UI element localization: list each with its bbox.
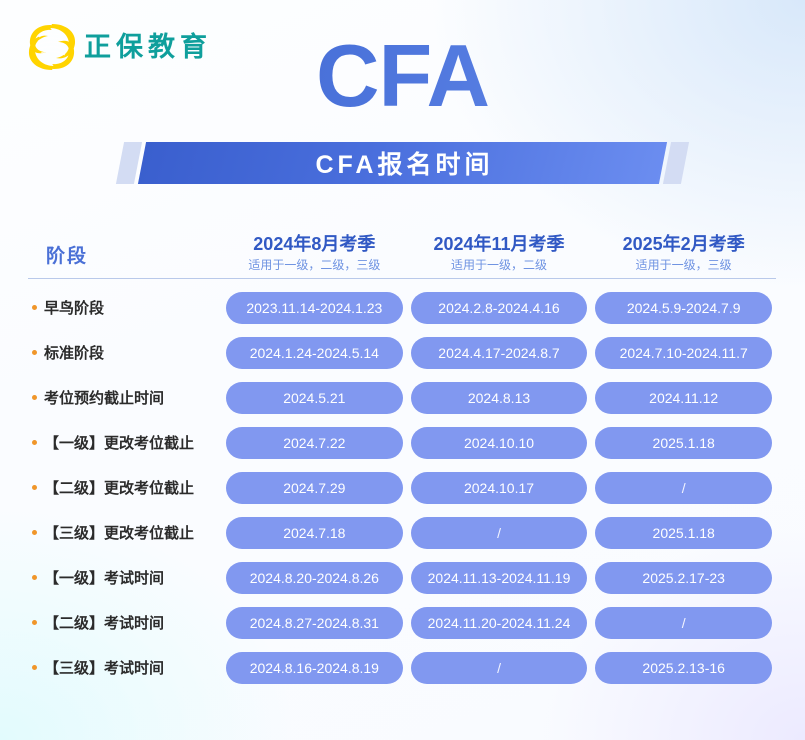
date-pill: 2024.8.27-2024.8.31 bbox=[226, 607, 403, 639]
row-label-text: 【三级】考试时间 bbox=[44, 657, 164, 678]
table-cell: 2024.7.29 bbox=[222, 472, 407, 504]
table-cell: 2024.1.24-2024.5.14 bbox=[222, 337, 407, 369]
bullet-icon bbox=[32, 575, 37, 580]
row-label-text: 【一级】考试时间 bbox=[44, 567, 164, 588]
banner-title: CFA报名时间 bbox=[120, 142, 685, 184]
date-pill: 2024.10.10 bbox=[411, 427, 588, 459]
date-pill: 2024.8.20-2024.8.26 bbox=[226, 562, 403, 594]
table-cell: 2024.8.27-2024.8.31 bbox=[222, 607, 407, 639]
row-label: 【二级】考试时间 bbox=[28, 612, 222, 633]
date-pill: / bbox=[411, 517, 588, 549]
table-cell: / bbox=[407, 652, 592, 684]
table-cell: 2025.2.13-16 bbox=[591, 652, 776, 684]
table-row: 考位预约截止时间 2024.5.21 2024.8.13 2024.11.12 bbox=[28, 375, 776, 420]
table-cell: / bbox=[591, 607, 776, 639]
table-cell: 2024.4.17-2024.8.7 bbox=[407, 337, 592, 369]
table-cell: 2025.1.18 bbox=[591, 517, 776, 549]
table-cell: 2024.7.10-2024.11.7 bbox=[591, 337, 776, 369]
bullet-icon bbox=[32, 665, 37, 670]
table-row: 标准阶段 2024.1.24-2024.5.14 2024.4.17-2024.… bbox=[28, 330, 776, 375]
row-label: 早鸟阶段 bbox=[28, 297, 222, 318]
table-header-row: 阶段 2024年8月考季 适用于一级，二级，三级 2024年11月考季 适用于一… bbox=[28, 228, 776, 278]
table-cell: / bbox=[591, 472, 776, 504]
column-header-season-2: 2024年11月考季 适用于一级，二级 bbox=[407, 233, 592, 275]
table-cell: 2024.2.8-2024.4.16 bbox=[407, 292, 592, 324]
table-cell: / bbox=[407, 517, 592, 549]
bullet-icon bbox=[32, 395, 37, 400]
bullet-icon bbox=[32, 305, 37, 310]
date-pill: 2025.1.18 bbox=[595, 427, 772, 459]
row-label-text: 【二级】更改考位截止 bbox=[44, 477, 194, 498]
row-label: 【一级】考试时间 bbox=[28, 567, 222, 588]
row-label-text: 早鸟阶段 bbox=[44, 297, 104, 318]
bullet-icon bbox=[32, 620, 37, 625]
date-pill: 2024.11.13-2024.11.19 bbox=[411, 562, 588, 594]
row-label: 【三级】考试时间 bbox=[28, 657, 222, 678]
table-cell: 2024.10.10 bbox=[407, 427, 592, 459]
date-pill: 2025.2.17-23 bbox=[595, 562, 772, 594]
table-cell: 2024.8.13 bbox=[407, 382, 592, 414]
table-cell: 2024.11.20-2024.11.24 bbox=[407, 607, 592, 639]
column-header-season-1: 2024年8月考季 适用于一级，二级，三级 bbox=[222, 233, 407, 275]
schedule-table: 阶段 2024年8月考季 适用于一级，二级，三级 2024年11月考季 适用于一… bbox=[28, 228, 776, 690]
date-pill: 2024.7.10-2024.11.7 bbox=[595, 337, 772, 369]
column-header-stage: 阶段 bbox=[28, 241, 222, 274]
column-header-title: 2024年8月考季 bbox=[222, 233, 407, 256]
date-pill: / bbox=[595, 472, 772, 504]
table-cell: 2024.5.21 bbox=[222, 382, 407, 414]
table-row: 【一级】更改考位截止 2024.7.22 2024.10.10 2025.1.1… bbox=[28, 420, 776, 465]
row-label: 考位预约截止时间 bbox=[28, 387, 222, 408]
column-header-title: 2025年2月考季 bbox=[591, 233, 776, 256]
table-cell: 2024.7.18 bbox=[222, 517, 407, 549]
row-label-text: 【三级】更改考位截止 bbox=[44, 522, 194, 543]
table-cell: 2024.11.12 bbox=[591, 382, 776, 414]
date-pill: 2024.7.22 bbox=[226, 427, 403, 459]
poster-root: 正保教育 CFA CFA报名时间 阶段 2024年8月考季 适用于一级，二级，三… bbox=[0, 0, 805, 740]
table-cell: 2025.1.18 bbox=[591, 427, 776, 459]
date-pill: 2024.10.17 bbox=[411, 472, 588, 504]
table-cell: 2025.2.17-23 bbox=[591, 562, 776, 594]
table-cell: 2024.10.17 bbox=[407, 472, 592, 504]
column-header-subtitle: 适用于一级，二级，三级 bbox=[222, 256, 407, 274]
bullet-icon bbox=[32, 530, 37, 535]
date-pill: / bbox=[595, 607, 772, 639]
table-row: 【二级】考试时间 2024.8.27-2024.8.31 2024.11.20-… bbox=[28, 600, 776, 645]
date-pill: 2024.7.18 bbox=[226, 517, 403, 549]
row-label: 标准阶段 bbox=[28, 342, 222, 363]
page-title: CFA bbox=[0, 32, 805, 120]
date-pill: 2024.2.8-2024.4.16 bbox=[411, 292, 588, 324]
table-cell: 2024.5.9-2024.7.9 bbox=[591, 292, 776, 324]
column-header-subtitle: 适用于一级，三级 bbox=[591, 256, 776, 274]
date-pill: 2024.11.12 bbox=[595, 382, 772, 414]
bullet-icon bbox=[32, 485, 37, 490]
date-pill: 2024.11.20-2024.11.24 bbox=[411, 607, 588, 639]
bullet-icon bbox=[32, 440, 37, 445]
date-pill: 2024.7.29 bbox=[226, 472, 403, 504]
bullet-icon bbox=[32, 350, 37, 355]
table-row: 【二级】更改考位截止 2024.7.29 2024.10.17 / bbox=[28, 465, 776, 510]
column-header-season-3: 2025年2月考季 适用于一级，三级 bbox=[591, 233, 776, 275]
table-cell: 2024.8.16-2024.8.19 bbox=[222, 652, 407, 684]
row-label-text: 考位预约截止时间 bbox=[44, 387, 164, 408]
table-body: 早鸟阶段 2023.11.14-2024.1.23 2024.2.8-2024.… bbox=[28, 279, 776, 690]
table-row: 【三级】更改考位截止 2024.7.18 / 2025.1.18 bbox=[28, 510, 776, 555]
row-label: 【二级】更改考位截止 bbox=[28, 477, 222, 498]
table-cell: 2023.11.14-2024.1.23 bbox=[222, 292, 407, 324]
column-header-title: 2024年11月考季 bbox=[407, 233, 592, 256]
date-pill: 2024.5.9-2024.7.9 bbox=[595, 292, 772, 324]
row-label-text: 【一级】更改考位截止 bbox=[44, 432, 194, 453]
row-label-text: 【二级】考试时间 bbox=[44, 612, 164, 633]
date-pill: 2025.1.18 bbox=[595, 517, 772, 549]
column-header-subtitle: 适用于一级，二级 bbox=[407, 256, 592, 274]
table-cell: 2024.11.13-2024.11.19 bbox=[407, 562, 592, 594]
date-pill: 2024.4.17-2024.8.7 bbox=[411, 337, 588, 369]
row-label-text: 标准阶段 bbox=[44, 342, 104, 363]
date-pill: 2025.2.13-16 bbox=[595, 652, 772, 684]
date-pill: 2024.1.24-2024.5.14 bbox=[226, 337, 403, 369]
date-pill: / bbox=[411, 652, 588, 684]
table-cell: 2024.8.20-2024.8.26 bbox=[222, 562, 407, 594]
row-label: 【三级】更改考位截止 bbox=[28, 522, 222, 543]
table-row: 【三级】考试时间 2024.8.16-2024.8.19 / 2025.2.13… bbox=[28, 645, 776, 690]
table-cell: 2024.7.22 bbox=[222, 427, 407, 459]
date-pill: 2023.11.14-2024.1.23 bbox=[226, 292, 403, 324]
table-row: 早鸟阶段 2023.11.14-2024.1.23 2024.2.8-2024.… bbox=[28, 285, 776, 330]
table-row: 【一级】考试时间 2024.8.20-2024.8.26 2024.11.13-… bbox=[28, 555, 776, 600]
banner: CFA报名时间 bbox=[120, 142, 685, 184]
date-pill: 2024.8.16-2024.8.19 bbox=[226, 652, 403, 684]
row-label: 【一级】更改考位截止 bbox=[28, 432, 222, 453]
date-pill: 2024.5.21 bbox=[226, 382, 403, 414]
date-pill: 2024.8.13 bbox=[411, 382, 588, 414]
